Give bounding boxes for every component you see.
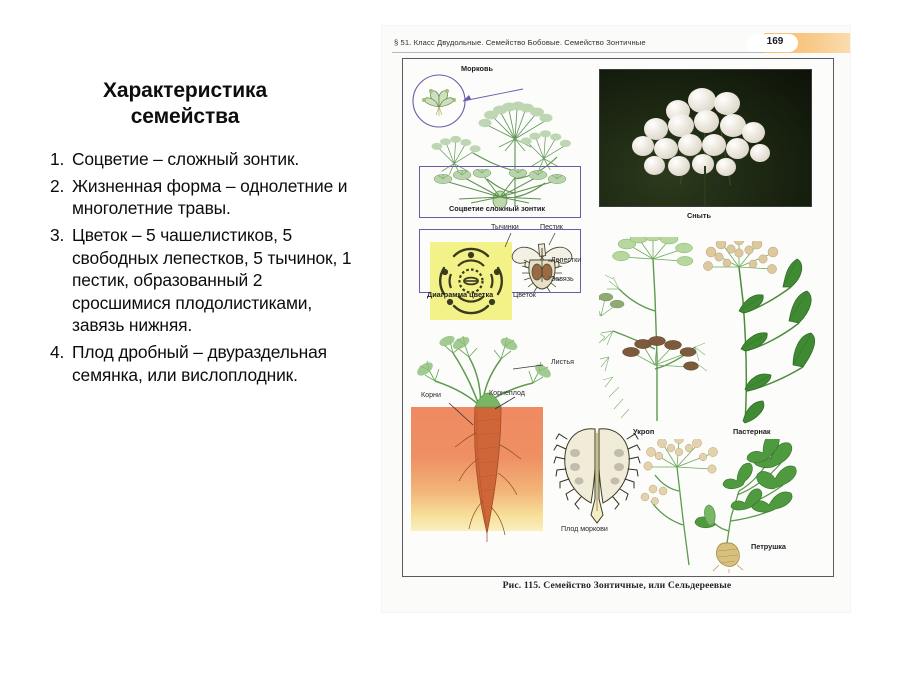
list-item-text: Плод дробный – двураздельная семянка, ил… (72, 342, 327, 385)
label-leaves: Листья (551, 358, 574, 366)
label-goutweed: Сныть (687, 211, 711, 220)
list-item-text: Жизненная форма – однолетние и многолетн… (72, 176, 347, 219)
parsnip-illustration (699, 241, 827, 427)
label-compound-umbel: Соцветие сложный зонтик (449, 204, 545, 213)
list-item-number: 4. (50, 341, 72, 364)
textbook-page-image: § 51. Класс Двудольные. Семейство Бобовы… (382, 26, 850, 612)
list-item: 2. Жизненная форма – однолетние и многол… (36, 175, 354, 220)
flower-label-leaders (503, 227, 573, 293)
list-item-number: 3. (50, 224, 72, 247)
list-item-text: Соцветие – сложный зонтик. (72, 149, 299, 169)
compound-umbel-diagram (425, 169, 575, 207)
page-number: 169 (752, 36, 798, 47)
label-carrot-fruit: Плод моркови (561, 525, 608, 533)
figure-caption: Рис. 115. Семейство Зонтичные, или Сельд… (402, 580, 832, 591)
list-item-text: Цветок – 5 чашелистиков, 5 свободных леп… (72, 225, 351, 336)
list-item-number: 1. (50, 148, 72, 171)
label-roots: Корни (421, 391, 441, 399)
slide-text-panel: Характеристика семейства 1. Соцветие – с… (0, 0, 380, 683)
label-root-crop: Корнеплод (489, 389, 525, 397)
label-carrot: Морковь (461, 64, 493, 73)
carrot-fruit-illustration (551, 419, 643, 525)
list-item: 4. Плод дробный – двураздельная семянка,… (36, 341, 354, 386)
parsley-illustration (633, 439, 833, 573)
label-parsley: Петрушка (751, 542, 786, 551)
dill-illustration (599, 237, 707, 425)
page-title-line-2: семейства (40, 104, 330, 130)
label-dill: Укроп (633, 427, 654, 436)
running-head: § 51. Класс Двудольные. Семейство Бобовы… (390, 38, 850, 54)
label-parsnip: Пастернак (733, 427, 771, 436)
list-item: 1. Соцветие – сложный зонтик. (36, 148, 354, 171)
goutweed-photo (599, 69, 812, 207)
carrot-root-illustration (443, 381, 539, 543)
characteristics-list: 1. Соцветие – сложный зонтик. 2. Жизненн… (36, 148, 354, 390)
page-title-line-1: Характеристика (40, 78, 330, 104)
figure-115: Морковь (402, 58, 834, 577)
list-item: 3. Цветок – 5 чашелистиков, 5 свободных … (36, 224, 354, 337)
running-head-text: § 51. Класс Двудольные. Семейство Бобовы… (394, 38, 646, 47)
list-item-number: 2. (50, 175, 72, 198)
page-title: Характеристика семейства (40, 78, 330, 129)
page-number-tab: 169 (764, 33, 850, 53)
